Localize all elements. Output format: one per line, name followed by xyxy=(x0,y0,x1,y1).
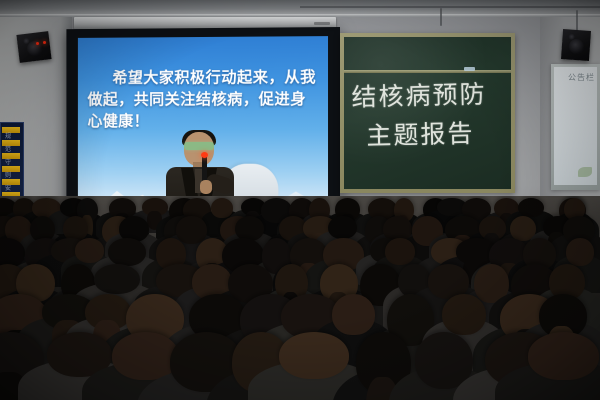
banner-cell-label: 安 xyxy=(5,185,19,192)
speaker-led-indicator-b xyxy=(43,41,46,44)
audience-head xyxy=(279,332,348,379)
notice-board-text: 公告栏 xyxy=(568,72,595,83)
audience-head xyxy=(566,238,594,266)
audience-head xyxy=(332,294,375,335)
blackboard: 结核病预防 主题报告 xyxy=(344,37,511,189)
audience-head xyxy=(442,294,486,335)
audience-head xyxy=(528,332,600,380)
banner-cell-label: 规 xyxy=(5,133,19,140)
classroom-photo-scene: 希望大家积极行动起来，从我做起，共同关注结核病，促进身心健康！ 结核病预防 主题… xyxy=(0,0,600,400)
blackboard-text: 结核病预防 主题报告 xyxy=(351,75,505,156)
audience-head xyxy=(94,264,140,294)
cable-drop-left xyxy=(440,8,442,26)
audience-head xyxy=(176,216,207,244)
slide-text: 希望大家积极行动起来，从我做起，共同关注结核病，促进身心健康！ xyxy=(87,66,318,132)
audience-head xyxy=(211,198,233,218)
ceiling-cable xyxy=(300,6,600,8)
cable-drop-right xyxy=(576,10,578,32)
banner-cell-label: 范 xyxy=(5,146,19,153)
blackboard-line-2: 主题报告 xyxy=(366,114,505,156)
housing-badge xyxy=(314,22,330,25)
audience-head xyxy=(112,332,179,380)
blackboard-rail xyxy=(344,70,511,73)
microphone-led-icon xyxy=(201,152,208,158)
presenter-glasses-glare xyxy=(184,142,214,150)
notice-board-smudge xyxy=(578,167,592,177)
slide-line-1: 希望大家积极行动起来，从 xyxy=(112,68,300,87)
wall-speaker-left xyxy=(16,31,51,63)
audience-area xyxy=(0,196,600,400)
wall-speaker-right xyxy=(561,29,591,61)
speaker-cone-icon xyxy=(568,39,584,55)
audience-head xyxy=(108,238,146,266)
audience-head xyxy=(328,216,356,239)
banner-cell-label: 则 xyxy=(5,172,19,179)
blackboard-frame: 结核病预防 主题报告 xyxy=(340,33,515,193)
blackboard-line-1: 结核病预防 xyxy=(351,80,487,112)
notice-board-frame: 公告栏 xyxy=(551,64,600,190)
banner-cell-label: 守 xyxy=(5,159,19,166)
speaker-led-indicator-a xyxy=(36,42,39,45)
audience-head xyxy=(518,198,544,217)
presenter-hand xyxy=(200,180,212,194)
chalk-piece xyxy=(464,67,475,71)
notice-board: 公告栏 xyxy=(554,67,597,185)
audience-head xyxy=(385,238,415,265)
speaker-cone-icon xyxy=(26,40,43,57)
